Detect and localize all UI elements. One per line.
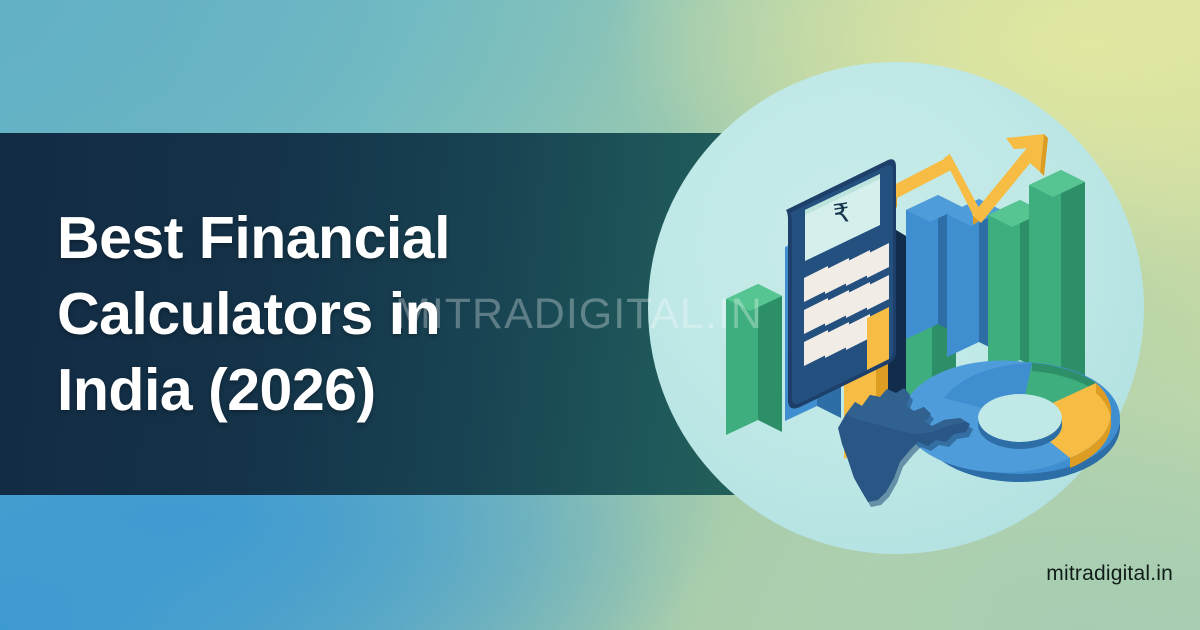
hero-banner-canvas: ₹ bbox=[0, 0, 1200, 630]
footer-brand: mitradigital.in bbox=[1046, 562, 1173, 586]
headline-line-1: Best Financial bbox=[57, 200, 697, 276]
illustration-svg: ₹ bbox=[648, 62, 1144, 554]
donut-chart bbox=[903, 361, 1120, 482]
headline-line-3: India (2026) bbox=[57, 352, 697, 428]
headline-line-2: Calculators in bbox=[57, 276, 697, 352]
calculator-icon: ₹ bbox=[786, 159, 906, 410]
page-title: Best Financial Calculators in India (202… bbox=[57, 200, 697, 428]
calculator-accent-button bbox=[867, 307, 889, 370]
bar-right-4-green bbox=[1029, 170, 1085, 387]
bar-left-1-green bbox=[726, 284, 782, 435]
finance-illustration: ₹ bbox=[648, 62, 1144, 554]
